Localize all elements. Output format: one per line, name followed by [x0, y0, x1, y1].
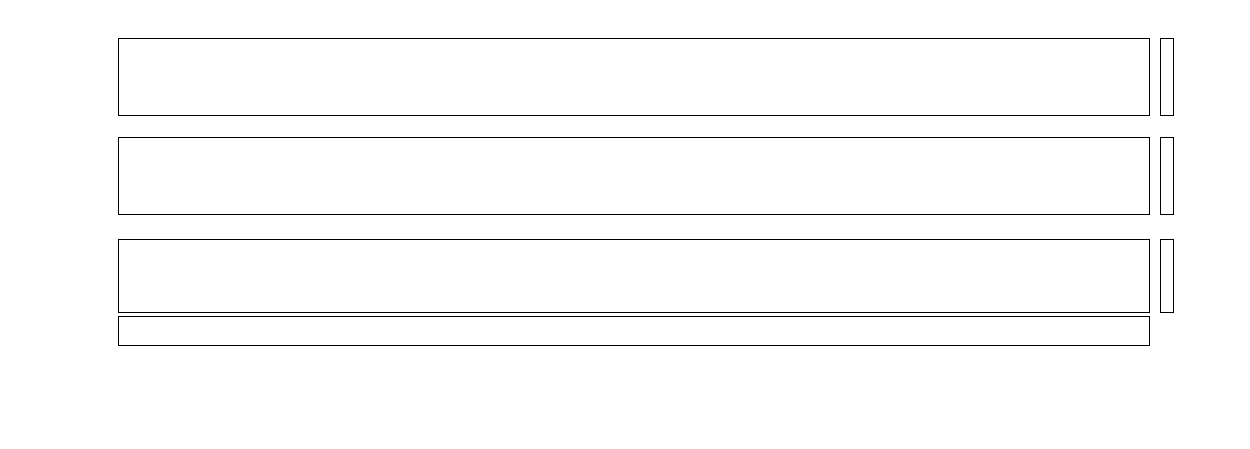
spectrogram-eueu [118, 137, 1150, 215]
figure-root [0, 0, 1250, 449]
colorbar-bubu [1160, 239, 1174, 313]
colorbar-eueu [1160, 137, 1174, 215]
spectrogram-bubu [118, 239, 1150, 313]
altitude-plot [118, 316, 1150, 346]
spectrogram-hfr [118, 38, 1150, 116]
colorbar-hfr [1160, 38, 1174, 116]
